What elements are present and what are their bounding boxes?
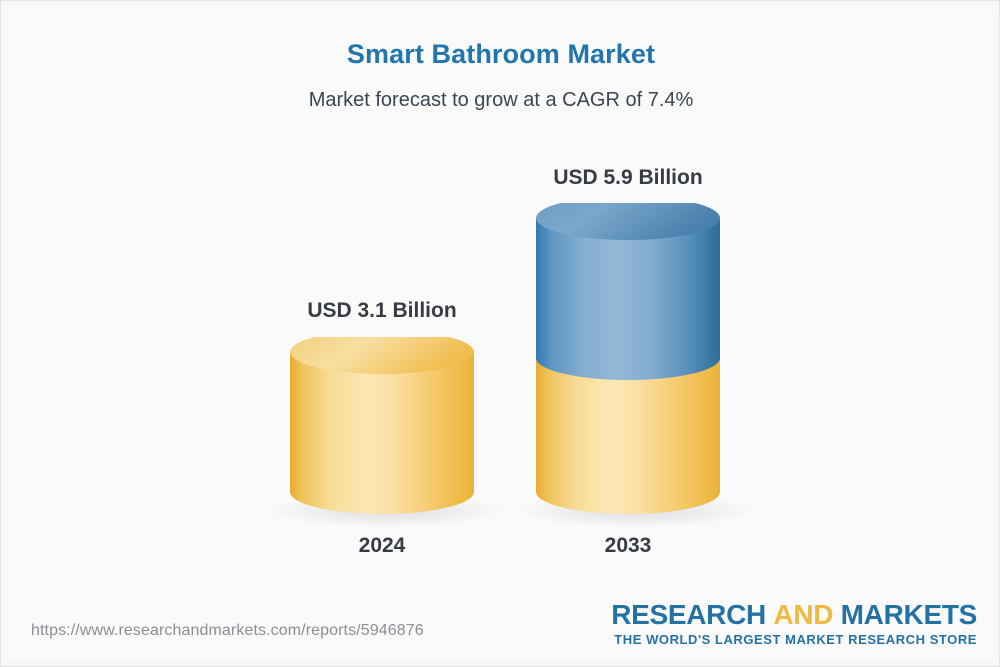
bar-2033 <box>533 203 723 517</box>
logo-and: AND <box>773 599 833 630</box>
research-and-markets-logo[interactable]: RESEARCH AND MARKETS THE WORLD'S LARGEST… <box>611 601 977 647</box>
logo-markets: MARKETS <box>841 599 977 630</box>
chart-canvas: Smart Bathroom Market Market forecast to… <box>0 0 1000 667</box>
value-label-2024: USD 3.1 Billion <box>232 299 532 323</box>
logo-tagline: THE WORLD'S LARGEST MARKET RESEARCH STOR… <box>611 632 977 647</box>
chart-title: Smart Bathroom Market <box>1 39 1000 70</box>
chart-subtitle: Market forecast to grow at a CAGR of 7.4… <box>1 89 1000 112</box>
logo-wordmark: RESEARCH AND MARKETS <box>611 601 977 630</box>
logo-research: RESEARCH <box>611 599 766 630</box>
value-label-2033: USD 5.9 Billion <box>478 166 778 190</box>
category-label-2033: 2033 <box>478 534 778 558</box>
report-url[interactable]: https://www.researchandmarkets.com/repor… <box>31 622 424 640</box>
bar-2024 <box>287 337 477 517</box>
